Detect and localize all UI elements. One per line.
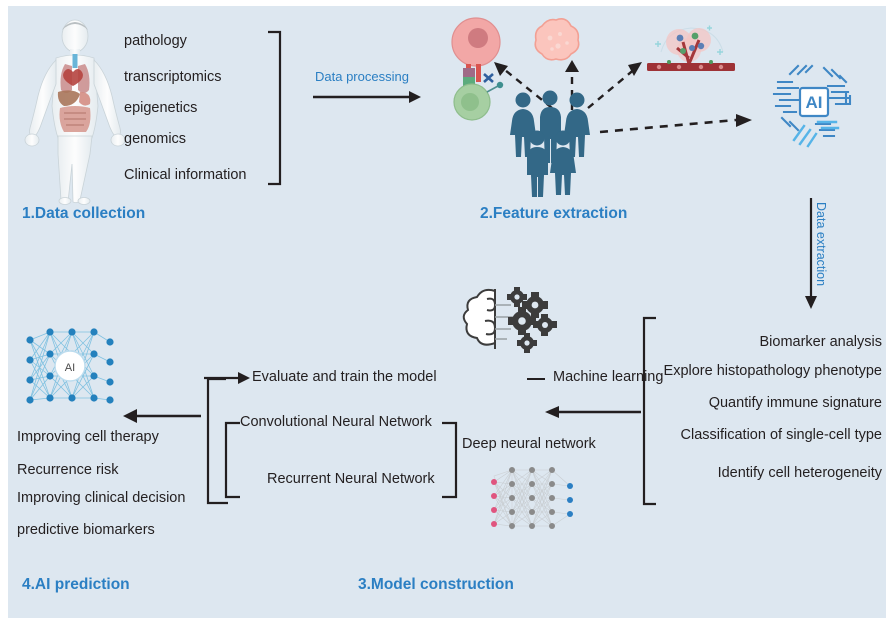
rnn-label: Recurrent Neural Network — [267, 472, 435, 488]
diagram-board: pathology transcriptomics epigenetics ge… — [8, 6, 886, 618]
stage4-outcome-1: Recurrence risk — [17, 463, 119, 479]
stage4-outcome-0: Improving cell therapy — [17, 430, 159, 446]
analysis-item-1: Explore histopathology phenotype — [664, 364, 882, 380]
stage1-bracket — [266, 30, 288, 186]
ai-chip-label: AI — [806, 93, 823, 112]
stage1-item-0: pathology — [124, 34, 187, 50]
data-processing-arrow — [313, 89, 423, 105]
deep-neural-network-label: Deep neural network — [462, 437, 596, 453]
stage4-title: 4.AI prediction — [22, 576, 130, 594]
analysis-item-0: Biomarker analysis — [760, 335, 883, 351]
data-processing-label: Data processing — [315, 69, 409, 84]
population-people-icon — [505, 90, 597, 182]
evaluate-ml-connector — [527, 378, 545, 380]
stage1-item-1: transcriptomics — [124, 70, 222, 86]
deep-neural-network-grid-icon — [486, 464, 582, 536]
cnn-label: Convolutional Neural Network — [240, 415, 432, 431]
stage1-item-2: epigenetics — [124, 101, 197, 117]
ai-network-label: AI — [65, 362, 75, 374]
ai-neural-network-icon: AI — [16, 324, 120, 424]
stage3-title: 3.Model construction — [358, 576, 514, 594]
stage2-title: 2.Feature extraction — [480, 205, 627, 223]
evaluate-train-label: Evaluate and train the model — [252, 370, 437, 386]
analysis-to-model-arrow — [545, 404, 643, 420]
human-body-anatomy-icon — [20, 14, 130, 204]
analysis-list-bracket — [640, 316, 660, 506]
ai-brain-chip-icon: AI — [760, 52, 864, 156]
stage1-item-4: Clinical information — [124, 168, 247, 184]
diagram-canvas: pathology transcriptomics epigenetics ge… — [0, 0, 894, 626]
analysis-item-2: Quantify immune signature — [709, 396, 882, 412]
brain-gears-icon — [465, 283, 561, 355]
cnn-rnn-right-bracket — [440, 421, 460, 499]
stage1-title: 1.Data collection — [22, 205, 145, 223]
analysis-item-3: Classification of single-cell type — [681, 428, 882, 444]
analysis-item-4: Identify cell heterogeneity — [718, 466, 882, 482]
people-to-ai-arrow — [600, 114, 760, 138]
cnn-rnn-left-bracket — [222, 421, 242, 499]
stage4-outcome-2: Improving clinical decision — [17, 491, 185, 507]
stage1-item-3: genomics — [124, 132, 186, 148]
data-extraction-label: Data extraction — [814, 202, 828, 286]
stage4-outcome-3: predictive biomarkers — [17, 523, 155, 539]
machine-learning-label: Machine learning — [553, 370, 663, 386]
model-to-prediction-arrow — [123, 408, 203, 424]
